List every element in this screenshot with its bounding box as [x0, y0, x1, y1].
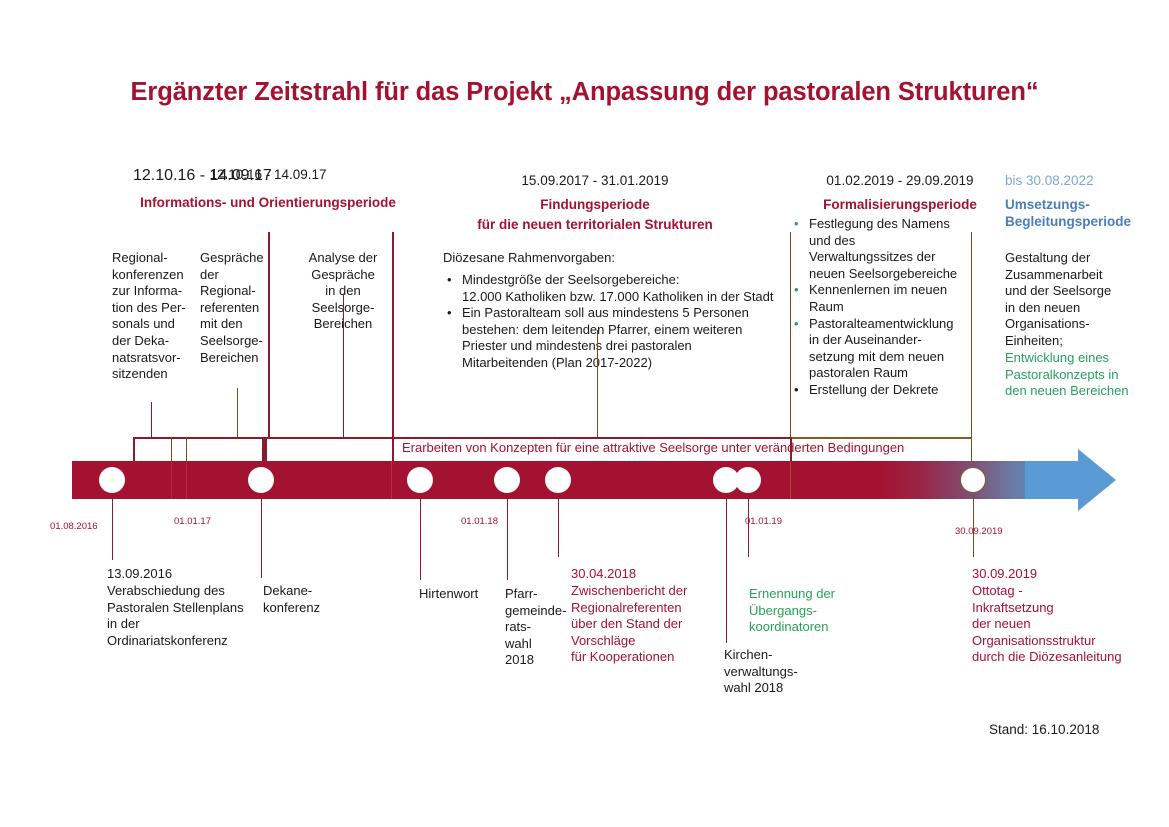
period-name-findungs-line1: Findungsperiode [405, 196, 785, 213]
findungs-bullet-list: • Mindestgröße der Seelsorgebereiche: 12… [443, 272, 793, 372]
bullet-line: pastoralen Raum [809, 365, 990, 382]
axis-date-label: 30.09.2019 [955, 526, 1003, 537]
connector-line [237, 388, 238, 438]
axis-date-label: 01.01.19 [745, 516, 782, 527]
bullet-line: Festlegung des Namens [809, 216, 990, 233]
timeline-node[interactable] [545, 467, 571, 493]
bar-divider [186, 461, 187, 499]
axis-date-label: 01.08.2016 [50, 521, 98, 532]
list-item: • Ein Pastoralteam soll aus mindestens 5… [443, 305, 793, 371]
bracket-line-red [133, 437, 793, 439]
column-regionalkonferenzen: Regional- konferenzen zur Informa- tion … [112, 250, 198, 383]
bullet-line: neuen Seelsorgebereiche [809, 266, 990, 283]
bullet-line: Kennenlernen im neuen [809, 282, 990, 299]
bullet-line: in der Auseinander- [809, 332, 990, 349]
bullet-line: Ein Pastoralteam soll aus mindestens 5 P… [462, 305, 793, 322]
connector-line [151, 402, 152, 438]
timeline-node[interactable] [735, 467, 761, 493]
bullet-line: und des [809, 233, 990, 250]
axis-date-label: 01.01.18 [461, 516, 498, 527]
period-date-formalisierung: 01.02.2019 - 29.09.2019 [790, 173, 1010, 188]
period-date-umsetzung: bis 30.08.2022 [1005, 173, 1155, 188]
bullet-line: Raum [809, 299, 990, 316]
list-item: • Festlegung des Namens und des Verwaltu… [790, 216, 990, 282]
bullet-icon: • [794, 282, 799, 299]
connector-line [790, 232, 791, 438]
bullet-line: bestehen: dem leitenden Pfarrer, einem w… [462, 322, 793, 339]
connector-line [343, 294, 344, 438]
event-date: 30.04.2018 [571, 566, 761, 583]
period-date-findungs: 15.09.2017 - 31.01.2019 [405, 173, 785, 188]
connector-line [597, 330, 598, 438]
leader-line [973, 495, 974, 557]
bullet-line: Priester und mindestens drei pastoralen [462, 338, 793, 355]
bar-divider [391, 461, 392, 499]
period-date-informations: 12.10.16 - 14.09.17 [133, 167, 403, 182]
banner-label: Erarbeiten von Konzepten für eine attrak… [402, 440, 982, 455]
connector-line [392, 232, 394, 438]
bullet-line: Erstellung der Dekrete [809, 382, 990, 399]
list-item: • Mindestgröße der Seelsorgebereiche: 12… [443, 272, 793, 305]
timeline-node[interactable] [99, 467, 125, 493]
stand-label: Stand: 16.10.2018 [989, 722, 1099, 737]
period-name-findungs-line2: für die neuen territorialen Strukturen [405, 216, 785, 233]
event-text: Hirtenwort [419, 586, 499, 603]
timeline-arrow-head-icon [1078, 449, 1116, 511]
leader-line [507, 495, 508, 580]
bullet-line: setzung mit dem neuen [809, 349, 990, 366]
leader-line [748, 495, 749, 557]
formalisierung-bullet-list: • Festlegung des Namens und des Verwaltu… [790, 216, 990, 399]
bullet-line: Mindestgröße der Seelsorgebereiche: [462, 272, 793, 289]
bullet-icon: • [794, 216, 799, 233]
event-text: Ottotag - Inkraftsetzung der neuen Organ… [972, 583, 1169, 666]
bullet-line: Pastoralteamentwicklung [809, 316, 990, 333]
bracket-drop-findungs-end [392, 437, 394, 462]
page-title: Ergänzter Zeitstrahl für das Projekt „An… [0, 78, 1169, 107]
bracket-drop [171, 437, 172, 462]
event-text: Pfarr- gemeinde- rats- wahl 2018 [505, 586, 567, 669]
bullet-line: Mitarbeitenden (Plan 2017-2022) [462, 355, 793, 372]
list-item: • Pastoralteamentwicklung in der Auseina… [790, 316, 990, 382]
timeline-node[interactable] [960, 467, 986, 493]
bracket-drop [266, 437, 267, 462]
timeline-node[interactable] [407, 467, 433, 493]
event-text: Verabschiedung des Pastoralen Stellenpla… [107, 583, 277, 649]
bullet-icon: • [794, 382, 799, 399]
bracket-drop-findungs [264, 437, 266, 462]
event-text: Kirchen- verwaltungs- wahl 2018 [724, 647, 834, 697]
period-name-formalisierung: Formalisierungsperiode [790, 196, 1010, 213]
list-item: • Kennenlernen im neuen Raum [790, 282, 990, 315]
bracket-line-brown [792, 437, 972, 439]
list-item: • Erstellung der Dekrete [790, 382, 990, 399]
bar-divider [171, 461, 172, 499]
axis-date-label: 01.01.17 [174, 516, 211, 527]
leader-line [420, 495, 421, 580]
period-name-umsetzung-line1: Umsetzungs- [1005, 196, 1155, 213]
bar-divider [790, 461, 791, 499]
bracket-drop [186, 437, 187, 462]
column-gespraeche-regionalreferenten: Gespräche der Regional- referenten mit d… [200, 250, 284, 366]
event-date: 13.09.2016 [107, 566, 282, 583]
umsetzung-dark-text: Gestaltung der Zusammenarbeit und der Se… [1005, 250, 1165, 350]
connector-line [268, 232, 270, 438]
event-date: 30.09.2019 [972, 566, 1169, 583]
event-text: Ernennung der Übergangs- koordinatoren [749, 586, 869, 636]
bracket-drop [133, 437, 135, 462]
timeline-node[interactable] [494, 467, 520, 493]
leader-line [112, 495, 113, 560]
bullet-line: 12.000 Katholiken bzw. 17.000 Katholiken… [462, 289, 793, 306]
findungs-intro: Diözesane Rahmenvorgaben: [443, 250, 793, 267]
umsetzung-green-text: Entwicklung eines Pastoralkonzepts in de… [1005, 350, 1169, 400]
connector-line [971, 232, 972, 438]
timeline-node[interactable] [248, 467, 274, 493]
bullet-icon: • [794, 316, 799, 333]
bullet-icon: • [447, 272, 452, 289]
leader-line [558, 495, 559, 557]
bullet-line: Verwaltungssitzes der [809, 249, 990, 266]
period-name-umsetzung-line2: Begleitungsperiode [1005, 213, 1160, 230]
event-text: Dekane- konferenz [263, 583, 343, 616]
bullet-icon: • [447, 305, 452, 322]
period-name-informations: Informations- und Orientierungsperiode [112, 194, 424, 211]
